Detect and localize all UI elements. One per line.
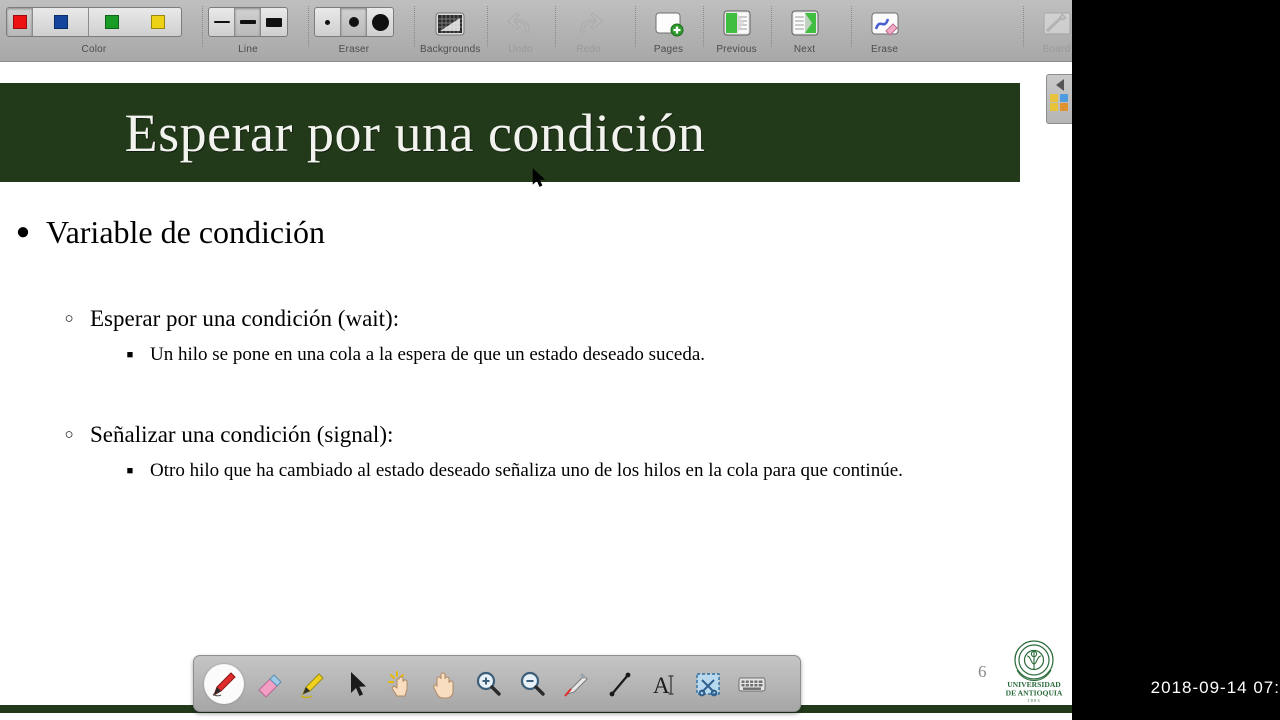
bullet-text: Otro hilo que ha cambiado al estado dese…: [150, 458, 903, 484]
color-selector[interactable]: [6, 7, 182, 37]
toolbar-caption-undo: Undo: [508, 44, 533, 55]
bullet-marker: ●: [0, 210, 46, 254]
bullet-marker: ○: [48, 420, 90, 450]
drawing-tools-palette: A: [193, 655, 801, 712]
mouse-cursor: [532, 168, 546, 188]
slide-body: ● Variable de condición ○ Esperar por un…: [0, 192, 1020, 484]
svg-text:DE ANTIOQUIA: DE ANTIOQUIA: [1006, 689, 1063, 698]
bullet-text: Un hilo se pone en una cola a la espera …: [150, 342, 705, 368]
svg-text:A: A: [653, 673, 670, 698]
zoom-out-tool[interactable]: [510, 661, 554, 707]
magnifier-plus-icon: [472, 668, 504, 700]
zoom-in-tool[interactable]: [466, 661, 510, 707]
pointing-hand-icon: [384, 668, 416, 700]
erase-button[interactable]: [857, 4, 913, 41]
toolbar-group-undo: Undo: [487, 0, 555, 55]
selector-tool[interactable]: [334, 661, 378, 707]
clock-overlay: 2018-09-14 07:: [1151, 678, 1280, 698]
universidad-de-antioquia-logo: UNIVERSIDAD DE ANTIOQUIA 1803: [1003, 634, 1065, 706]
line-tool[interactable]: [598, 661, 642, 707]
screen: Color L: [0, 0, 1280, 720]
redo-button[interactable]: [561, 4, 617, 41]
text-tool[interactable]: A: [642, 661, 686, 707]
bullet-marker: ○: [48, 304, 90, 334]
backgrounds-icon: [433, 7, 467, 41]
line-width-thick[interactable]: [261, 8, 287, 36]
keyboard-icon: [736, 668, 768, 700]
next-page-button[interactable]: [777, 4, 833, 41]
eraser-size-selector[interactable]: [314, 7, 394, 37]
laser-tool[interactable]: [554, 661, 598, 707]
pen-icon: [208, 668, 240, 700]
bullet-marker: ■: [110, 342, 150, 368]
slide-title-banner: Esperar por una condición: [0, 83, 1020, 182]
slide-canvas[interactable]: Esperar por una condición ● Variable de …: [0, 62, 1072, 720]
capture-tool[interactable]: [686, 661, 730, 707]
toolbar-caption-line: Line: [238, 44, 258, 55]
slide-page-number: 6: [978, 662, 987, 682]
toolbar-group-previous: Previous: [703, 0, 771, 55]
bullet-level2-wait: ○ Esperar por una condición (wait):: [48, 304, 1020, 334]
toolbar-caption-board: Board: [1043, 44, 1071, 55]
next-page-icon: [788, 7, 822, 41]
toolbar-caption-redo: Redo: [576, 44, 601, 55]
top-toolbar: Color L: [0, 0, 1072, 62]
text-a-icon: A: [648, 668, 680, 700]
toolbar-group-line: Line: [202, 0, 294, 55]
highlighter-icon: [296, 668, 328, 700]
laser-pointer-tool[interactable]: [378, 661, 422, 707]
pages-button[interactable]: [641, 4, 697, 41]
toolbar-group-erase: Erase: [851, 0, 919, 55]
line-icon: [604, 668, 636, 700]
line-width-medium[interactable]: [235, 8, 261, 36]
previous-page-icon: [720, 7, 754, 41]
openboard-window: Color L: [0, 0, 1072, 720]
color-swatch-blue[interactable]: [33, 8, 89, 36]
chevron-left-icon: [1056, 79, 1064, 91]
library-icons: [1050, 94, 1069, 111]
board-button[interactable]: [1029, 4, 1072, 41]
new-page-icon: [652, 7, 686, 41]
hand-pan-tool[interactable]: [422, 661, 466, 707]
svg-text:1803: 1803: [1027, 698, 1041, 703]
virtual-keyboard-tool[interactable]: [730, 661, 774, 707]
toolbar-group-pages: Pages: [635, 0, 703, 55]
toolbar-group-board: Board: [1023, 0, 1072, 55]
toolbar-group-backgrounds: Backgrounds: [414, 0, 487, 55]
page-title: Esperar por una condición: [125, 102, 896, 164]
bullet-level3-wait-detail: ■ Un hilo se pone en una cola a la esper…: [110, 342, 1020, 368]
previous-page-button[interactable]: [709, 4, 765, 41]
eraser-size-large[interactable]: [367, 8, 393, 36]
color-swatch-red[interactable]: [7, 8, 33, 36]
library-panel-tab[interactable]: [1046, 74, 1072, 124]
toolbar-caption-eraser: Eraser: [339, 44, 370, 55]
toolbar-caption-previous: Previous: [716, 44, 757, 55]
arrow-pointer-icon: [340, 668, 372, 700]
magnifier-minus-icon: [516, 668, 548, 700]
toolbar-caption-color: Color: [82, 44, 107, 55]
toolbar-caption-pages: Pages: [654, 44, 683, 55]
bullet-text: Señalizar una condición (signal):: [90, 420, 393, 450]
highlighter-tool[interactable]: [290, 661, 334, 707]
toolbar-caption-backgrounds: Backgrounds: [420, 44, 481, 55]
backgrounds-button[interactable]: [422, 4, 478, 41]
toolbar-group-next: Next: [771, 0, 839, 55]
bullet-text: Variable de condición: [46, 210, 325, 254]
line-width-thin[interactable]: [209, 8, 235, 36]
board-icon: [1040, 7, 1072, 41]
bullet-level2-signal: ○ Señalizar una condición (signal):: [48, 420, 1020, 450]
eraser-icon: [252, 668, 284, 700]
open-hand-icon: [428, 668, 460, 700]
undo-icon: [504, 7, 538, 41]
bullet-marker: ■: [110, 458, 150, 484]
color-swatch-yellow[interactable]: [135, 8, 181, 36]
eraser-size-medium[interactable]: [341, 8, 367, 36]
toolbar-caption-next: Next: [794, 44, 815, 55]
bullet-text: Esperar por una condición (wait):: [90, 304, 399, 334]
toolbar-caption-erase: Erase: [871, 44, 898, 55]
toolbar-group-redo: Redo: [555, 0, 623, 55]
eraser-tool[interactable]: [246, 661, 290, 707]
toolbar-group-color: Color: [0, 0, 188, 55]
scissors-capture-icon: [692, 668, 724, 700]
laser-pen-icon: [560, 668, 592, 700]
toolbar-group-eraser: Eraser: [308, 0, 400, 55]
redo-icon: [572, 7, 606, 41]
line-width-selector[interactable]: [208, 7, 288, 37]
eraser-size-small[interactable]: [315, 8, 341, 36]
undo-button[interactable]: [493, 4, 549, 41]
pen-tool[interactable]: [202, 661, 246, 707]
bullet-level1: ● Variable de condición: [0, 210, 1020, 254]
color-swatch-green[interactable]: [89, 8, 135, 36]
bullet-level3-signal-detail: ■ Otro hilo que ha cambiado al estado de…: [110, 458, 1020, 484]
erase-icon: [868, 7, 902, 41]
